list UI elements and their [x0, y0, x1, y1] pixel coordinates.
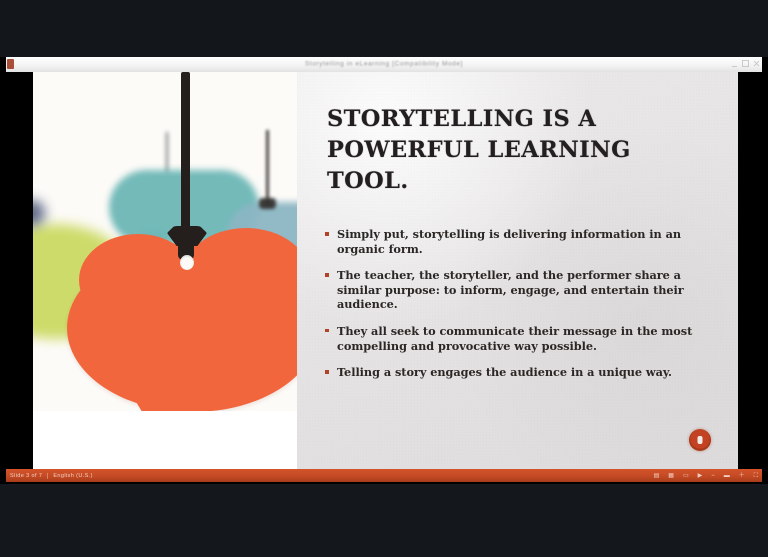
slide-stage: Storytelling is a powerful learning tool…: [0, 72, 768, 469]
image-bottom-fill: [33, 411, 297, 469]
list-item: Telling a story engages the audience in …: [324, 365, 716, 380]
presentation-app-window: Storytelling in eLearning [Compatibility…: [0, 57, 768, 484]
window-titlebar[interactable]: Storytelling in eLearning [Compatibility…: [6, 57, 762, 73]
normal-view-icon[interactable]: ▤: [654, 473, 660, 479]
slideshow-icon[interactable]: ▶: [698, 473, 703, 479]
fit-slide-icon[interactable]: ⛶: [754, 473, 758, 479]
orange-bubble-string: [181, 72, 190, 232]
language-indicator[interactable]: English (U.S.): [53, 473, 93, 479]
screen: Storytelling in eLearning [Compatibility…: [0, 0, 768, 557]
slide-image-panel: [33, 72, 297, 469]
list-item: They all seek to communicate their messa…: [324, 324, 716, 353]
navy-blob-shape: [33, 200, 45, 226]
minimize-window-icon[interactable]: [732, 66, 737, 67]
company-seal-logo: [689, 429, 711, 451]
slide-bullet-list: Simply put, storytelling is delivering i…: [324, 227, 716, 392]
slide-text-panel: Storytelling is a powerful learning tool…: [297, 72, 738, 469]
status-bar: Slide 3 of 7 English (U.S.) ▤ ▦ ▭ ▶ − ▬ …: [6, 469, 762, 482]
status-bar-left: Slide 3 of 7 English (U.S.): [10, 473, 93, 479]
slide-title: Storytelling is a powerful learning tool…: [327, 104, 712, 197]
zoom-slider-icon[interactable]: ▬: [724, 473, 730, 479]
presentation-app-icon: [7, 59, 14, 69]
close-window-icon[interactable]: [754, 61, 759, 66]
zoom-in-icon[interactable]: ＋: [739, 473, 745, 479]
list-item: The teacher, the storyteller, and the pe…: [324, 268, 716, 312]
slide-indicator[interactable]: Slide 3 of 7: [10, 473, 42, 479]
status-divider: [47, 473, 48, 479]
blue-bubble-knot: [259, 198, 276, 209]
orange-bubble-punch-hole: [180, 255, 194, 270]
blue-bubble-string: [266, 130, 269, 208]
list-item: Simply put, storytelling is delivering i…: [324, 227, 716, 256]
slide-canvas[interactable]: Storytelling is a powerful learning tool…: [33, 72, 738, 469]
reading-view-icon[interactable]: ▭: [683, 473, 689, 479]
window-controls[interactable]: [732, 60, 759, 67]
slide-sorter-icon[interactable]: ▦: [668, 473, 674, 479]
maximize-window-icon[interactable]: [742, 60, 749, 67]
letterbox-top: [0, 0, 768, 57]
window-title: Storytelling in eLearning [Compatibility…: [305, 61, 463, 68]
status-bar-right[interactable]: ▤ ▦ ▭ ▶ − ▬ ＋ ⛶: [654, 473, 758, 479]
teal-bubble-string: [166, 132, 168, 174]
letterbox-bottom: [0, 484, 768, 557]
zoom-out-icon[interactable]: −: [711, 473, 715, 479]
